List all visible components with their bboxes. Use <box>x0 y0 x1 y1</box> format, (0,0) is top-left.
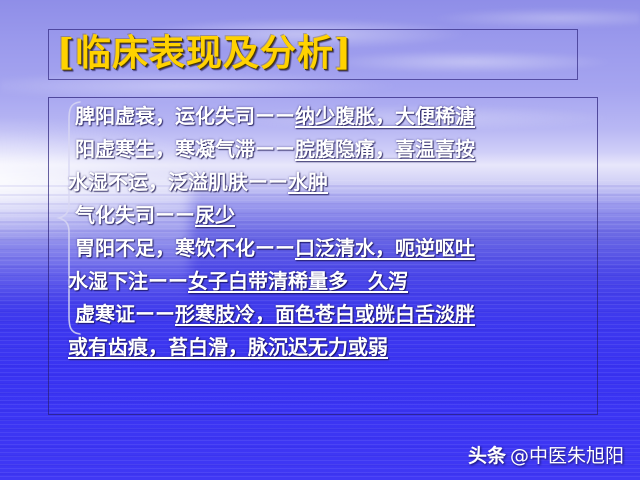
watermark: 头条@中医朱旭阳 <box>468 441 624 468</box>
body-line-4-underlined: 尿少 <box>195 203 235 227</box>
slide-canvas: [临床表现及分析] 脾阳虚衰，运化失司ーー纳少腹胀，大便稀溏 阳虚寒生，寒凝气滞… <box>0 0 640 480</box>
body-line-6-lead: 水湿下注ーー <box>68 269 188 293</box>
body-line-5: 胃阳不足，寒饮不化ーー口泛清水，呃逆呕吐 <box>68 232 596 265</box>
body-line-4-lead: 气化失司ーー <box>75 203 195 227</box>
body-line-1: 脾阳虚衰，运化失司ーー纳少腹胀，大便稀溏 <box>68 100 596 133</box>
body-text-block: 脾阳虚衰，运化失司ーー纳少腹胀，大便稀溏 阳虚寒生，寒凝气滞ーー脘腹隐痛，喜温喜… <box>68 100 596 364</box>
body-line-7: 虚寒证ーー形寒肢冷，面色苍白或㿠白舌淡胖 <box>68 298 596 331</box>
body-line-7-underlined: 形寒肢冷，面色苍白或㿠白舌淡胖 <box>175 302 475 326</box>
body-line-3-underlined: 水肿 <box>288 170 328 194</box>
body-line-5-lead: 胃阳不足，寒饮不化ーー <box>75 236 295 260</box>
body-line-6: 水湿下注ーー女子白带清稀量多 久泻 <box>68 265 596 298</box>
body-line-3: 水湿不运，泛溢肌肤ーー水肿 <box>68 166 596 199</box>
watermark-handle: @中医朱旭阳 <box>510 445 624 467</box>
page-title: [临床表现及分析] <box>57 28 352 79</box>
body-line-2: 阳虚寒生，寒凝气滞ーー脘腹隐痛，喜温喜按 <box>68 133 596 166</box>
body-line-7-lead: 虚寒证ーー <box>75 302 175 326</box>
watermark-brand: 头条 <box>468 445 506 467</box>
body-line-4: 气化失司ーー尿少 <box>68 199 596 232</box>
body-line-2-underlined: 脘腹隐痛，喜温喜按 <box>295 137 475 161</box>
body-line-1-underlined: 纳少腹胀，大便稀溏 <box>295 104 475 128</box>
body-line-6-underlined: 女子白带清稀量多 久泻 <box>188 269 408 293</box>
body-line-8: 或有齿痕，苔白滑，脉沉迟无力或弱 <box>68 331 596 364</box>
body-line-3-lead: 水湿不运，泛溢肌肤ーー <box>68 170 288 194</box>
body-line-1-lead: 脾阳虚衰，运化失司ーー <box>75 104 295 128</box>
body-line-8-underlined: 或有齿痕，苔白滑，脉沉迟无力或弱 <box>68 335 388 359</box>
body-line-5-underlined: 口泛清水，呃逆呕吐 <box>295 236 475 260</box>
title-box: [临床表现及分析] <box>48 29 578 80</box>
body-line-2-lead: 阳虚寒生，寒凝气滞ーー <box>75 137 295 161</box>
